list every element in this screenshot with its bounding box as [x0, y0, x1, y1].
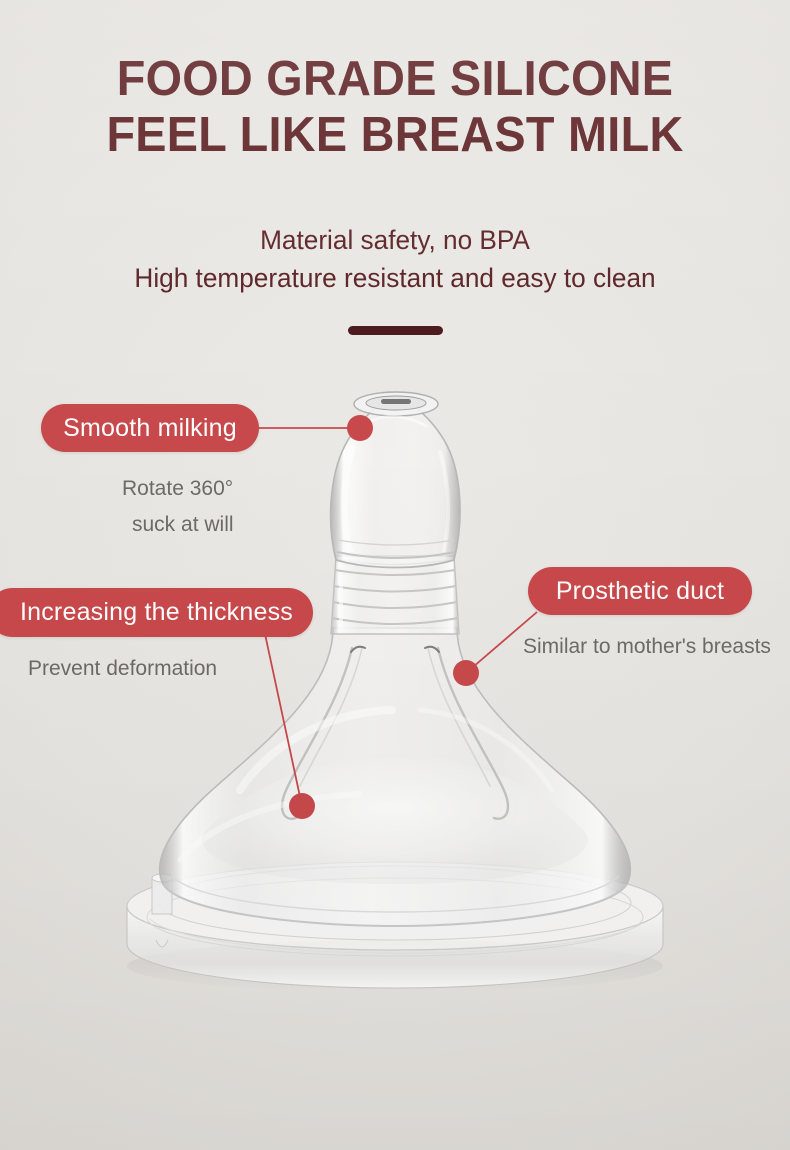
marker-dot-smooth-milking: [347, 415, 373, 441]
infographic-page: FOOD GRADE SILICONE FEEL LIKE BREAST MIL…: [0, 0, 790, 1150]
dome-tip: [331, 392, 460, 568]
callout-label-increasing-thickness: Increasing the thickness: [20, 598, 293, 627]
callout-pill-smooth-milking[interactable]: Smooth milking: [41, 404, 259, 452]
callout-detail-prevent-deformation: Prevent deformation: [28, 657, 217, 681]
callout-label-smooth-milking: Smooth milking: [63, 414, 237, 443]
callout-detail-rotate-360: Rotate 360°: [122, 477, 233, 501]
callout-detail-suck-at-will: suck at will: [132, 513, 234, 537]
callout-detail-similar-to-mothers-breasts: Similar to mother's breasts: [523, 635, 771, 659]
marker-dot-duct: [453, 660, 479, 686]
callout-label-prosthetic-duct: Prosthetic duct: [556, 577, 724, 606]
callout-pill-increasing-thickness[interactable]: Increasing the thickness: [0, 588, 313, 637]
vent-slit: [381, 399, 411, 404]
callout-pill-prosthetic-duct[interactable]: Prosthetic duct: [528, 567, 752, 615]
flared-bell: [160, 628, 631, 926]
marker-dot-thickness: [289, 793, 315, 819]
